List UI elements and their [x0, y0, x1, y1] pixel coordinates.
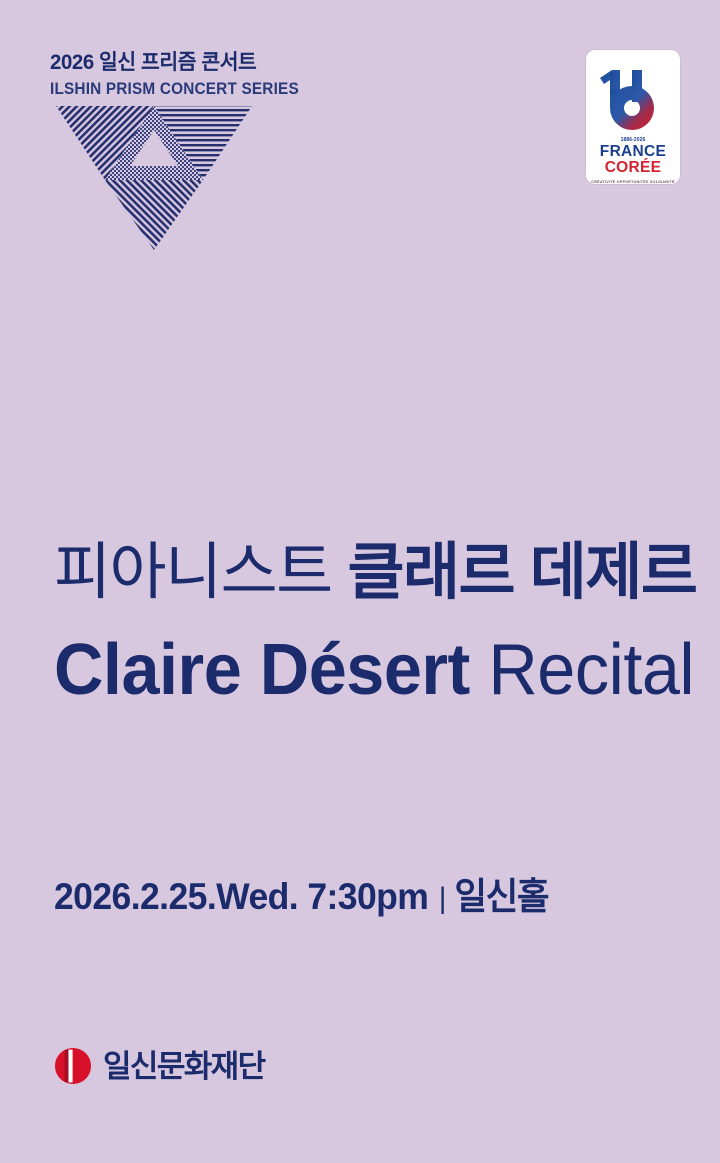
schedule-venue: 일신홀 — [454, 876, 548, 917]
foundation-name: 일신문화재단 — [103, 1051, 265, 1082]
headline-latin-space — [470, 630, 489, 710]
schedule-weekday: Wed. — [216, 876, 298, 917]
schedule-gap — [298, 876, 307, 917]
ilshin-foundation-mark-icon — [54, 1047, 92, 1085]
schedule-separator: | — [428, 884, 454, 914]
foundation-logo: 일신문화재단 — [54, 1046, 265, 1086]
france-coree-coree-label: CORÉE — [586, 160, 680, 176]
france-coree-france-label: FRANCE — [586, 144, 680, 160]
headline-latin-name: Claire Désert — [54, 630, 470, 710]
france-coree-text: 1886-2026 FRANCE CORÉE CRÉATIVITÉ OPPORT… — [586, 138, 680, 184]
france-coree-badge: 1886-2026 FRANCE CORÉE CRÉATIVITÉ OPPORT… — [586, 50, 680, 184]
prism-triangle-icon — [56, 104, 252, 250]
headline-korean: 피아니스트 클래르 데제르 — [54, 542, 694, 604]
france-coree-140-icon — [586, 56, 680, 138]
headline-korean-name: 클래르 데제르 — [347, 538, 696, 607]
series-title-english: ILSHIN PRISM CONCERT SERIES — [50, 80, 292, 99]
france-coree-tagline: CRÉATIVITÉ OPPORTUNITÉS SOLIDARITÉ — [588, 179, 677, 184]
series-branding: 2026 일신 프리즘 콘서트 ILSHIN PRISM CONCERT SER… — [50, 52, 310, 99]
schedule-time: 7:30pm — [307, 876, 428, 917]
headline-latin-kind: Recital — [488, 630, 694, 710]
headline-korean-role: 피아니스트 — [54, 538, 332, 607]
series-title-korean: 2026 일신 프리즘 콘서트 — [50, 52, 302, 74]
schedule-line: 2026.2.25.Wed. 7:30pm|일신홀 — [54, 878, 548, 915]
headline-latin: Claire Désert Recital — [54, 634, 681, 706]
schedule-date: 2026.2.25. — [54, 876, 216, 917]
concert-poster: 2026 일신 프리즘 콘서트 ILSHIN PRISM CONCERT SER… — [0, 0, 720, 1163]
headline-korean-space — [332, 538, 348, 607]
